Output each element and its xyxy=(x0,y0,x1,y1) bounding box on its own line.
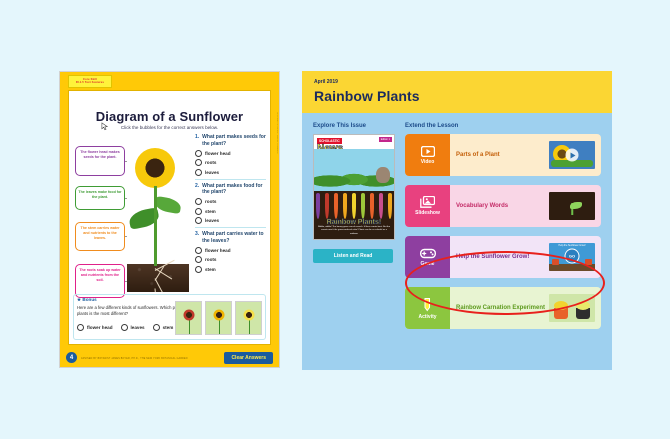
question-1: 1. What part makes seeds for the plant? … xyxy=(195,134,266,180)
thumb-flower-yellow xyxy=(554,301,568,310)
game-thumb-pot xyxy=(552,259,559,265)
option-label: flower head xyxy=(205,248,231,253)
callout-leaves: The leaves make food for the plant. xyxy=(75,186,125,210)
bonus-option-2[interactable]: leaves xyxy=(121,324,145,331)
stem-art xyxy=(154,186,157,266)
carrot xyxy=(325,193,329,219)
listen-and-read-button[interactable]: Listen and Read xyxy=(313,249,393,263)
credit-line: ADVISED BY BOTANIST JAMES BOYER, PH.D., … xyxy=(81,358,188,360)
bonus-thumb-3 xyxy=(235,301,262,335)
activity-thumbnail[interactable] xyxy=(549,294,595,322)
resource-row-video[interactable]: Video Parts of a Plant xyxy=(405,134,601,176)
explore-heading: Explore This Issue xyxy=(313,123,395,129)
option-label: roots xyxy=(205,160,216,165)
bonus-option-3[interactable]: stem xyxy=(153,324,174,331)
game-tag-label: Game xyxy=(421,261,435,267)
option-label: leaves xyxy=(205,170,219,175)
question-3-option-3[interactable]: stem xyxy=(195,266,266,273)
radio-bubble-icon[interactable] xyxy=(195,256,202,263)
slideshow-tag[interactable]: Slideshow xyxy=(405,185,450,227)
clear-answers-button[interactable]: Clear Answers xyxy=(224,352,273,364)
game-tag[interactable]: Game xyxy=(405,236,450,278)
callout-stem: The stem carries water and nutrients to … xyxy=(75,222,125,251)
carrot xyxy=(316,193,320,219)
carrot xyxy=(388,193,392,219)
radio-bubble-icon[interactable] xyxy=(153,324,160,331)
radio-bubble-icon[interactable] xyxy=(195,247,202,254)
rabbit-illustration xyxy=(376,167,390,183)
question-2: 2. What part makes food for the plant? r… xyxy=(195,183,266,229)
thumb-flower xyxy=(213,310,224,321)
game-thumb-soil xyxy=(549,264,595,271)
option-label: stem xyxy=(205,267,216,272)
explore-column: Explore This Issue SCHOLASTIC Edition 1 … xyxy=(313,123,395,338)
bonus-section: ★ Bonus Here are a few different kinds o… xyxy=(73,294,266,340)
worksheet-side-text: SCHOLASTIC NEWS / WEEKLY READER xyxy=(273,112,278,341)
callout-flower-head: The flower head makes seeds for the plan… xyxy=(75,146,125,176)
bonus-option-1[interactable]: flower head xyxy=(77,324,113,331)
question-2-number: 2. xyxy=(195,183,199,196)
resource-row-game[interactable]: Game Help the Sunflower Grow! Help the S… xyxy=(405,236,601,278)
video-tag[interactable]: Video xyxy=(405,134,450,176)
questions-list: 1. What part makes seeds for the plant? … xyxy=(195,134,266,294)
play-button-overlay[interactable] xyxy=(566,149,579,162)
thumb-flower-pale xyxy=(576,301,590,310)
panel-header: April 2019 Rainbow Plants xyxy=(302,71,612,113)
game-thumbnail[interactable]: Help the Sunflower Grow! GO xyxy=(549,243,595,271)
thumb-flower xyxy=(183,310,194,321)
magazine-cover-thumbnail[interactable]: SCHOLASTIC Edition 1 News xyxy=(313,134,395,240)
click-cursor-icon xyxy=(101,122,110,131)
pencil-icon xyxy=(422,297,433,312)
carrot xyxy=(343,193,347,219)
callout-roots: The roots soak up water and nutrients fr… xyxy=(75,264,125,298)
play-icon xyxy=(421,146,435,157)
worksheet-footer: 4 ADVISED BY BOTANIST JAMES BOYER, PH.D.… xyxy=(60,345,279,367)
question-1-number: 1. xyxy=(195,134,199,147)
bonus-label-text: Bonus xyxy=(82,297,96,302)
extend-column: Extend the Lesson Video Parts of a Plant xyxy=(405,123,601,338)
option-label: stem xyxy=(163,325,174,330)
video-thumbnail[interactable] xyxy=(549,141,595,169)
carrot xyxy=(352,193,356,219)
cover-title: Rainbow Plants! xyxy=(314,219,394,226)
page-subtitle: Click the bubbles for the correct answer… xyxy=(69,125,270,130)
gamepad-icon xyxy=(420,248,436,259)
bonus-thumb-2 xyxy=(205,301,232,335)
question-1-option-3[interactable]: leaves xyxy=(195,169,266,176)
option-label: flower head xyxy=(87,325,113,330)
activity-tag-label: Activity xyxy=(418,314,436,320)
option-label: leaves xyxy=(205,218,219,223)
option-label: flower head xyxy=(205,151,231,156)
carrot xyxy=(370,193,374,219)
sunflower-diagram: The flower head makes seeds for the plan… xyxy=(73,134,191,294)
resource-row-slideshow[interactable]: Slideshow Vocabulary Words xyxy=(405,185,601,227)
cover-subtitle: Nibble, nibble! The bunny goes crunch-cr… xyxy=(317,226,391,236)
carrot xyxy=(379,193,383,219)
flower-head-art xyxy=(135,148,175,188)
magazine-corner-tag: Edition 1 xyxy=(379,137,392,142)
issue-date: April 2019 xyxy=(314,79,600,85)
slideshow-tag-label: Slideshow xyxy=(415,210,440,216)
video-tag-label: Video xyxy=(421,159,435,165)
resource-row-activity[interactable]: Activity Rainbow Carnation Experiment xyxy=(405,287,601,329)
radio-bubble-icon[interactable] xyxy=(195,169,202,176)
radio-bubble-icon[interactable] xyxy=(195,198,202,205)
extend-heading: Extend the Lesson xyxy=(405,123,601,129)
question-2-option-3[interactable]: leaves xyxy=(195,217,266,224)
bonus-thumbnails xyxy=(175,301,262,335)
activity-title: Rainbow Carnation Experiment xyxy=(456,304,545,312)
question-3-option-2[interactable]: roots xyxy=(195,256,266,263)
page-title: Diagram of a Sunflower xyxy=(69,109,270,124)
radio-bubble-icon[interactable] xyxy=(121,324,128,331)
activity-tag[interactable]: Activity xyxy=(405,287,450,329)
option-label: stem xyxy=(205,209,216,214)
game-thumb-pot xyxy=(585,259,592,265)
sunflower-illustration xyxy=(127,138,189,292)
radio-bubble-icon[interactable] xyxy=(195,150,202,157)
slideshow-title: Vocabulary Words xyxy=(456,202,508,210)
question-2-option-1[interactable]: roots xyxy=(195,198,266,205)
question-3-text: What part carries water to the leaves? xyxy=(202,231,266,244)
core-skill-line2: RI.1.5 Text Features xyxy=(76,82,104,85)
game-title: Help the Sunflower Grow! xyxy=(456,253,529,261)
thumb-flower xyxy=(243,310,254,321)
image-stack-icon xyxy=(420,196,435,208)
radio-bubble-icon[interactable] xyxy=(195,217,202,224)
question-2-option-2[interactable]: stem xyxy=(195,208,266,215)
star-icon: ★ xyxy=(77,297,81,302)
question-2-text: What part makes food for the plant? xyxy=(202,183,266,196)
option-label: roots xyxy=(205,199,216,204)
worksheet-page: Diagram of a Sunflower Click the bubbles… xyxy=(68,90,271,345)
game-thumb-caption: Help the Sunflower Grow! xyxy=(549,243,595,248)
game-go-badge[interactable]: GO xyxy=(565,249,580,264)
question-3-number: 3. xyxy=(195,231,199,244)
question-1-text: What part makes seeds for the plant? xyxy=(202,134,266,147)
worksheet-panel: Core Skill RI.1.5 Text Features SCHOLAST… xyxy=(59,71,280,368)
question-3-option-1[interactable]: flower head xyxy=(195,247,266,254)
resource-panel: April 2019 Rainbow Plants Explore This I… xyxy=(302,71,612,370)
radio-bubble-icon[interactable] xyxy=(195,159,202,166)
core-skill-badge: Core Skill RI.1.5 Text Features xyxy=(68,75,112,88)
video-title: Parts of a Plant xyxy=(456,151,500,159)
question-3: 3. What part carries water to the leaves… xyxy=(195,231,266,276)
issue-title: Rainbow Plants xyxy=(314,88,600,104)
question-1-option-2[interactable]: roots xyxy=(195,159,266,166)
carrot xyxy=(361,193,365,219)
bonus-thumb-1 xyxy=(175,301,202,335)
subtitle-text: Click the bubbles for the correct answer… xyxy=(121,125,218,130)
option-label: leaves xyxy=(131,325,145,330)
radio-bubble-icon[interactable] xyxy=(195,266,202,273)
panel-body: Explore This Issue SCHOLASTIC Edition 1 … xyxy=(302,113,612,338)
thumb-sprout-leaf xyxy=(570,202,582,209)
radio-bubble-icon[interactable] xyxy=(77,324,84,331)
carrot xyxy=(334,193,338,219)
radio-bubble-icon[interactable] xyxy=(195,208,202,215)
page-number: 4 xyxy=(66,352,77,363)
question-1-option-1[interactable]: flower head xyxy=(195,150,266,157)
slideshow-thumbnail[interactable] xyxy=(549,192,595,220)
option-label: roots xyxy=(205,257,216,262)
